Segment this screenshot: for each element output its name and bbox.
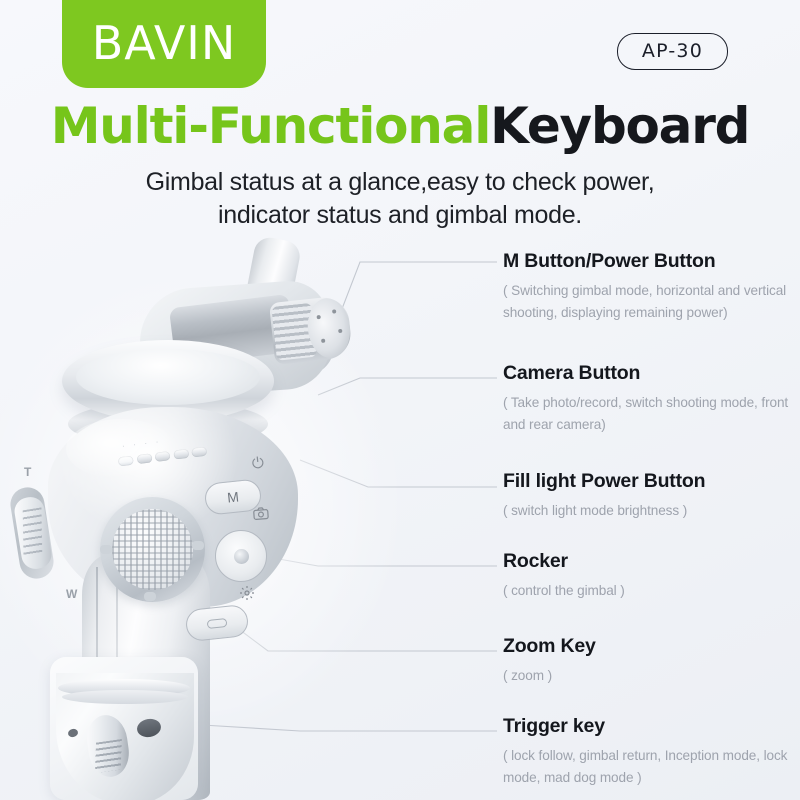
callout-description: ( switch light mode brightness ) [503,500,793,522]
camera-button[interactable] [215,530,267,582]
trigger-key-inset-photo [50,657,198,800]
callout-item: Rocker ( control the gimbal ) [503,550,793,602]
zoom-wide-mark: W [66,587,77,601]
callout-description: ( Take photo/record, switch shooting mod… [503,392,793,436]
callout-title: Camera Button [503,362,793,385]
page-title: Multi-FunctionalKeyboard [0,97,800,155]
battery-led [136,453,152,464]
callout-description: ( lock follow, gimbal return, Inception … [503,745,793,789]
callout-description: ( Switching gimbal mode, horizontal and … [503,280,793,324]
rocker-joystick[interactable] [100,497,205,602]
brand-logo-text: BAVIN [92,16,237,70]
battery-led [155,451,171,462]
callout-title: Fill light Power Button [503,470,793,493]
model-number-badge: AP-30 [617,33,728,70]
callout-title: Zoom Key [503,635,793,658]
callout-title: M Button/Power Button [503,250,793,273]
callout-description: ( zoom ) [503,665,793,687]
callout-item: Fill light Power Button ( switch light m… [503,470,793,522]
subtitle-line-1: Gimbal status at a glance,easy to check … [100,166,700,199]
zoom-slider-ribs [23,507,43,558]
callout-description: ( control the gimbal ) [503,580,793,602]
inset-handle-rim-inner [62,690,188,704]
battery-led [118,456,134,467]
fill-light-icon [239,585,255,605]
headline-green-part: Multi-Functional [51,97,490,155]
callout-item: Zoom Key ( zoom ) [503,635,793,687]
battery-led [173,449,189,460]
camera-button-center [234,549,249,564]
headline-dark-part: Keyboard [490,97,749,155]
battery-led [191,447,207,458]
callout-title: Rocker [503,550,793,573]
gimbal-base-inner [76,349,260,405]
power-icon: ⏻ [251,454,265,472]
trigger-ribbed-texture [95,739,122,773]
rocker-textured-face [112,509,193,590]
callout-item: M Button/Power Button ( Switching gimbal… [503,250,793,324]
callout-item: Trigger key ( lock follow, gimbal return… [503,715,793,789]
camera-icon [252,506,269,523]
zoom-tele-mark: T [24,465,31,479]
shell-highlight [66,419,176,479]
fill-light-button-bar [207,617,228,628]
brand-logo-badge: BAVIN [62,0,266,88]
callout-item: Camera Button ( Take photo/record, switc… [503,362,793,436]
callout-title: Trigger key [503,715,793,738]
gimbal-tilt-knob [269,295,353,365]
